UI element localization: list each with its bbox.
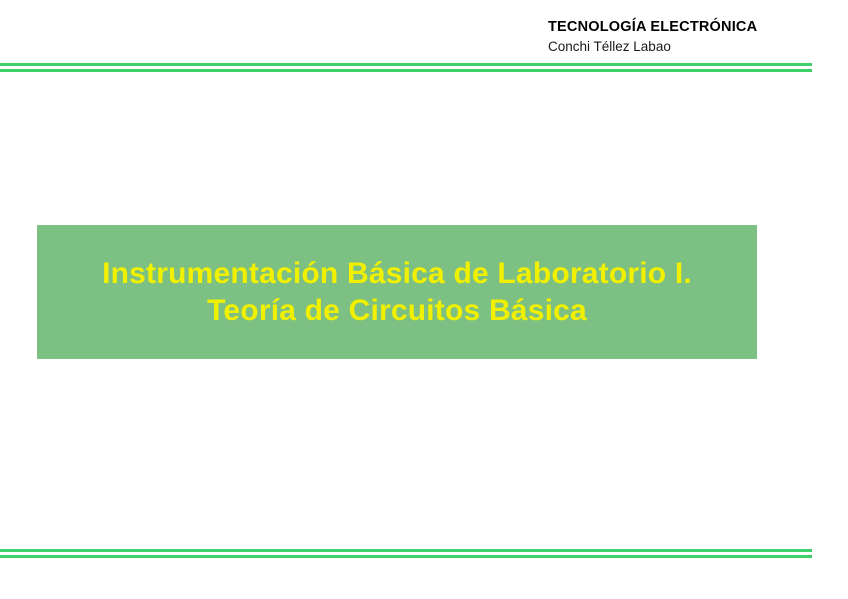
- header-divider: [0, 63, 812, 72]
- footer-divider-line-2: [0, 555, 812, 558]
- header-divider-line-2: [0, 69, 812, 72]
- slide-title-text: Instrumentación Básica de Laboratorio I.…: [55, 255, 739, 329]
- slide-canvas: TECNOLOGÍA ELECTRÓNICA Conchi Téllez Lab…: [0, 0, 848, 599]
- slide-footer: Dpto. de Tecnología Electrónica. E.T.S.I…: [0, 562, 848, 599]
- slide-header: TECNOLOGÍA ELECTRÓNICA Conchi Téllez Lab…: [548, 18, 828, 56]
- slide-title-box: Instrumentación Básica de Laboratorio I.…: [37, 225, 757, 359]
- header-course-title: TECNOLOGÍA ELECTRÓNICA: [548, 18, 828, 37]
- header-author-name: Conchi Téllez Labao: [548, 37, 828, 56]
- footer-divider: [0, 549, 812, 558]
